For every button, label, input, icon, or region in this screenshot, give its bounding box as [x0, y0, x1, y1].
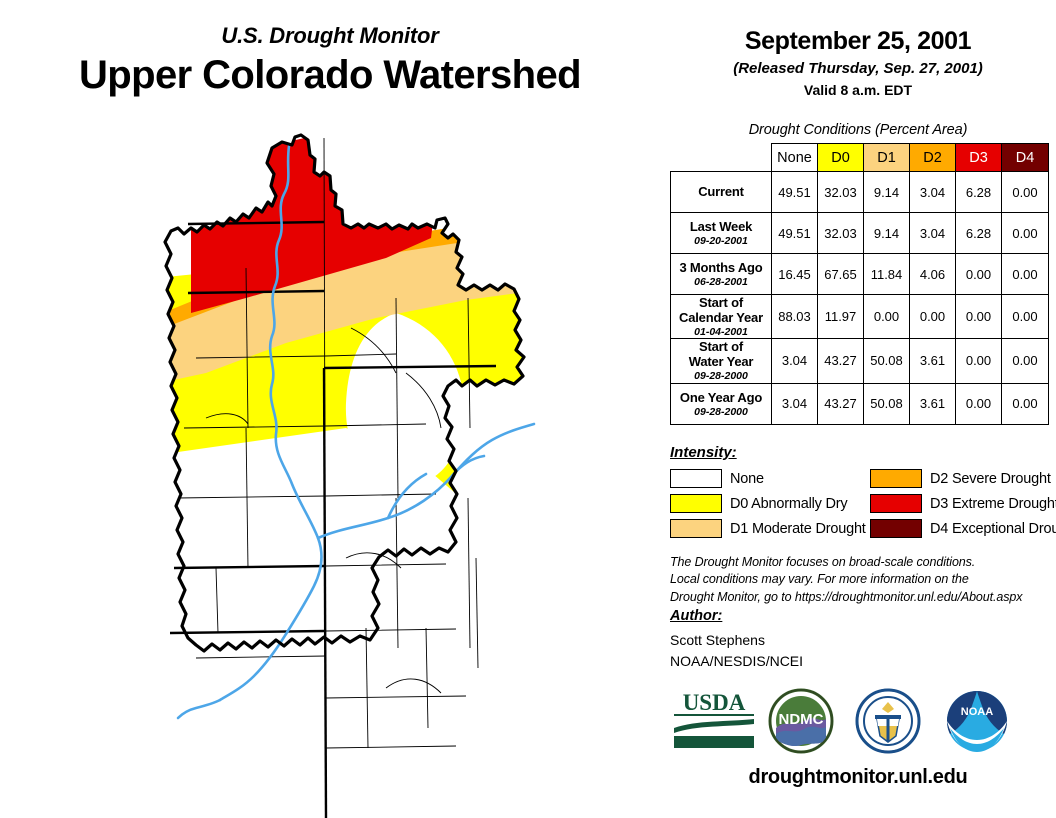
cell-d1-1: 9.14 [864, 213, 910, 254]
row-label-2: 3 Months Ago06-28-2001 [671, 254, 772, 295]
usda-logo-icon: USDA [668, 688, 760, 750]
title-block: U.S. Drought Monitor Upper Colorado Wate… [0, 24, 660, 98]
column-header-d0: D0 [818, 144, 864, 172]
table-header-row: None D0 D1 D2 D3 D4 [671, 144, 1049, 172]
cell-none-0: 49.51 [772, 172, 818, 213]
site-url[interactable]: droughtmonitor.unl.edu [660, 766, 1056, 789]
legend-item-d2: D2 Severe Drought [870, 466, 1056, 491]
row-label-date: 09-28-2000 [671, 370, 771, 382]
svg-text:NDMC: NDMC [779, 711, 824, 728]
usda-logo[interactable]: USDA [668, 688, 760, 755]
cell-d4-1: 0.00 [1002, 213, 1049, 254]
cell-d4-0: 0.00 [1002, 172, 1049, 213]
cell-d1-4: 50.08 [864, 339, 910, 383]
table-caption: Drought Conditions (Percent Area) [660, 122, 1056, 138]
doc-seal-icon [850, 688, 926, 754]
legend-swatch-d1 [670, 519, 722, 538]
legend-swatch-d2 [870, 469, 922, 488]
cell-none-1: 49.51 [772, 213, 818, 254]
table-corner-cell [671, 144, 772, 172]
legend-item-none: None [670, 466, 866, 491]
cell-d3-4: 0.00 [956, 339, 1002, 383]
cell-d4-3: 0.00 [1002, 295, 1049, 339]
cell-d1-5: 50.08 [864, 383, 910, 424]
cell-d4-4: 0.00 [1002, 339, 1049, 383]
notes-line-2: Local conditions may vary. For more info… [670, 571, 1054, 588]
ndmc-logo[interactable]: NDMC [762, 688, 840, 759]
cell-d3-2: 0.00 [956, 254, 1002, 295]
cell-d2-3: 0.00 [910, 295, 956, 339]
drought-map[interactable] [96, 128, 556, 818]
page-title: Upper Colorado Watershed [0, 53, 660, 98]
row-label-line: 3 Months Ago [671, 260, 771, 275]
cell-d2-4: 3.61 [910, 339, 956, 383]
svg-text:USDA: USDA [683, 690, 746, 715]
table-row: One Year Ago09-28-20003.0443.2750.083.61… [671, 383, 1049, 424]
table-row: 3 Months Ago06-28-200116.4567.6511.844.0… [671, 254, 1049, 295]
author-name: Scott Stephens [670, 630, 803, 651]
legend-label-d3: D3 Extreme Drought [930, 496, 1056, 512]
column-header-d3: D3 [956, 144, 1002, 172]
legend-swatch-d0 [670, 494, 722, 513]
cell-d0-5: 43.27 [818, 383, 864, 424]
row-label-line: Water Year [671, 354, 771, 369]
row-label-5: One Year Ago09-28-2000 [671, 383, 772, 424]
row-label-0: Current [671, 172, 772, 213]
row-label-line: Start of [671, 339, 771, 354]
notes-line-3[interactable]: Drought Monitor, go to https://droughtmo… [670, 589, 1054, 606]
row-label-1: Last Week09-20-2001 [671, 213, 772, 254]
date-block: September 25, 2001 (Released Thursday, S… [660, 0, 1056, 98]
legend-item-d3: D3 Extreme Drought [870, 491, 1056, 516]
cell-d2-2: 4.06 [910, 254, 956, 295]
column-header-d4: D4 [1002, 144, 1049, 172]
row-label-line: Calendar Year [671, 310, 771, 325]
cell-d3-5: 0.00 [956, 383, 1002, 424]
row-label-date: 09-20-2001 [671, 235, 771, 247]
column-header-none: None [772, 144, 818, 172]
drought-conditions-table: None D0 D1 D2 D3 D4 Current49.5132.039.1… [670, 143, 1049, 425]
cell-d4-5: 0.00 [1002, 383, 1049, 424]
disclaimer-notes: The Drought Monitor focuses on broad-sca… [670, 554, 1054, 606]
author-affiliation: NOAA/NESDIS/NCEI [670, 651, 803, 672]
released-note: (Released Thursday, Sep. 27, 2001) [660, 61, 1056, 78]
cell-d0-1: 32.03 [818, 213, 864, 254]
legend-swatch-d4 [870, 519, 922, 538]
cell-d0-4: 43.27 [818, 339, 864, 383]
doc-seal-logo[interactable] [850, 688, 926, 759]
table-row: Start ofCalendar Year01-04-200188.0311.9… [671, 295, 1049, 339]
noaa-logo-icon: NOAA [938, 688, 1016, 754]
valid-note: Valid 8 a.m. EDT [660, 83, 1056, 98]
legend-item-d4: D4 Exceptional Drought [870, 516, 1056, 541]
info-panel: September 25, 2001 (Released Thursday, S… [660, 0, 1056, 816]
cell-d4-2: 0.00 [1002, 254, 1049, 295]
cell-none-5: 3.04 [772, 383, 818, 424]
legend-item-d1: D1 Moderate Drought [670, 516, 866, 541]
notes-line-1: The Drought Monitor focuses on broad-sca… [670, 554, 1054, 571]
column-header-d2: D2 [910, 144, 956, 172]
release-date: September 25, 2001 [660, 28, 1056, 56]
row-label-line: Last Week [671, 219, 771, 234]
cell-none-2: 16.45 [772, 254, 818, 295]
page-supertitle: U.S. Drought Monitor [0, 24, 660, 47]
author-heading: Author: [670, 608, 722, 624]
cell-d2-0: 3.04 [910, 172, 956, 213]
row-label-date: 06-28-2001 [671, 276, 771, 288]
svg-text:NOAA: NOAA [961, 706, 993, 718]
cell-none-4: 3.04 [772, 339, 818, 383]
row-label-line: Start of [671, 295, 771, 310]
cell-d1-3: 0.00 [864, 295, 910, 339]
legend-label-d2: D2 Severe Drought [930, 471, 1051, 487]
cell-d0-0: 32.03 [818, 172, 864, 213]
cell-none-3: 88.03 [772, 295, 818, 339]
legend-label-d0: D0 Abnormally Dry [730, 496, 847, 512]
table-row: Current49.5132.039.143.046.280.00 [671, 172, 1049, 213]
row-label-3: Start ofCalendar Year01-04-2001 [671, 295, 772, 339]
noaa-logo[interactable]: NOAA [938, 688, 1016, 759]
cell-d1-0: 9.14 [864, 172, 910, 213]
row-label-date: 09-28-2000 [671, 406, 771, 418]
column-header-d1: D1 [864, 144, 910, 172]
cell-d3-3: 0.00 [956, 295, 1002, 339]
legend-swatch-none [670, 469, 722, 488]
cell-d1-2: 11.84 [864, 254, 910, 295]
row-label-4: Start ofWater Year09-28-2000 [671, 339, 772, 383]
row-label-line: One Year Ago [671, 390, 771, 405]
cell-d3-1: 6.28 [956, 213, 1002, 254]
table-row: Last Week09-20-200149.5132.039.143.046.2… [671, 213, 1049, 254]
table-row: Start ofWater Year09-28-20003.0443.2750.… [671, 339, 1049, 383]
legend-label-d1: D1 Moderate Drought [730, 521, 866, 537]
row-label-line: Current [671, 184, 771, 199]
cell-d0-3: 11.97 [818, 295, 864, 339]
legend-column-right: D2 Severe DroughtD3 Extreme DroughtD4 Ex… [870, 466, 1056, 541]
ndmc-logo-icon: NDMC [762, 688, 840, 754]
cell-d0-2: 67.65 [818, 254, 864, 295]
row-label-date: 01-04-2001 [671, 326, 771, 338]
legend-label-d4: D4 Exceptional Drought [930, 521, 1056, 537]
legend-column-left: NoneD0 Abnormally DryD1 Moderate Drought [670, 466, 866, 541]
intensity-heading: Intensity: [670, 444, 737, 461]
legend-swatch-d3 [870, 494, 922, 513]
partner-logos: USDA NDMC [660, 688, 1056, 760]
author-block: Scott Stephens NOAA/NESDIS/NCEI [670, 630, 803, 671]
cell-d2-1: 3.04 [910, 213, 956, 254]
cell-d3-0: 6.28 [956, 172, 1002, 213]
legend-label-none: None [730, 471, 764, 487]
legend-item-d0: D0 Abnormally Dry [670, 491, 866, 516]
table-body: Current49.5132.039.143.046.280.00Last We… [671, 172, 1049, 425]
cell-d2-5: 3.61 [910, 383, 956, 424]
drought-map-svg[interactable] [96, 128, 556, 818]
